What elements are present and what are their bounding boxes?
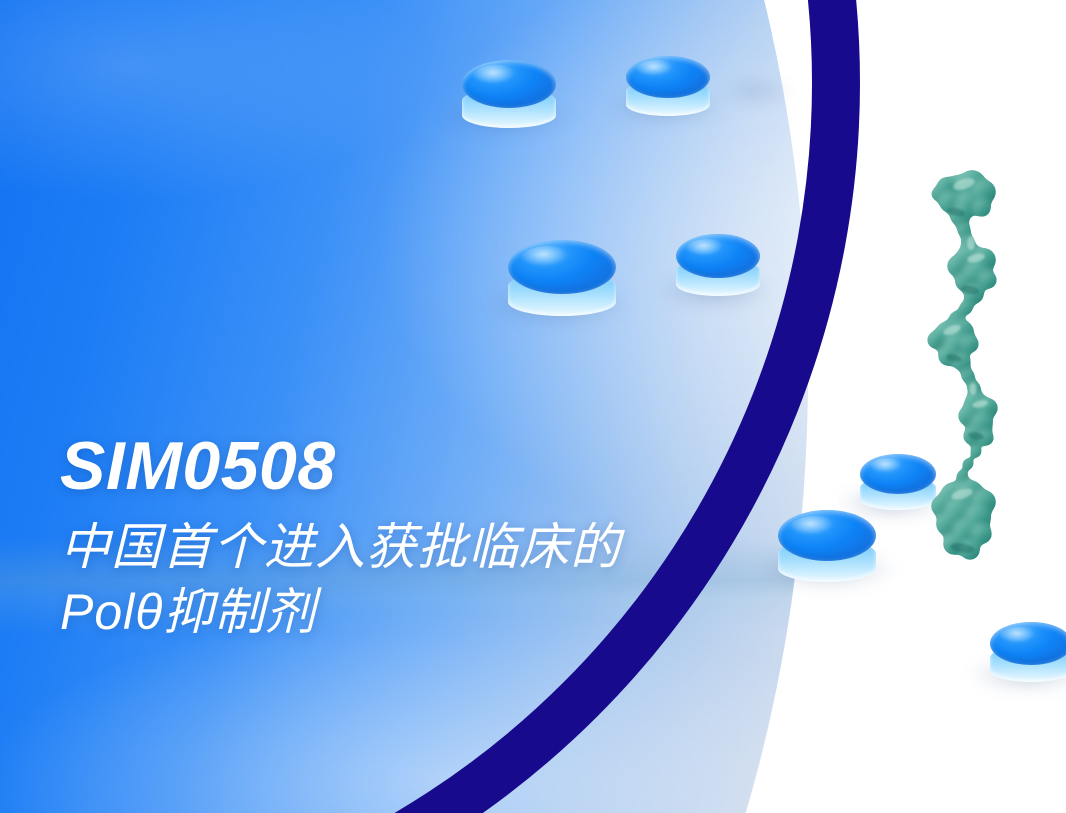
tablet-face	[990, 622, 1066, 665]
product-name: SIM0508	[60, 432, 621, 501]
tablet-face	[778, 510, 876, 561]
subtitle-line-2: Polθ抑制剂	[60, 580, 621, 645]
subtitle-line-1: 中国首个进入获批临床的	[60, 515, 621, 580]
blue-round-tablet	[990, 622, 1066, 682]
promo-banner: SIM0508 中国首个进入获批临床的 Polθ抑制剂	[0, 0, 1066, 813]
tablet-face	[860, 454, 936, 494]
subtitle: 中国首个进入获批临床的 Polθ抑制剂	[60, 515, 621, 645]
headline-block: SIM0508 中国首个进入获批临床的 Polθ抑制剂	[60, 432, 621, 645]
blue-round-tablet	[860, 454, 936, 510]
blue-round-tablet	[778, 510, 876, 582]
